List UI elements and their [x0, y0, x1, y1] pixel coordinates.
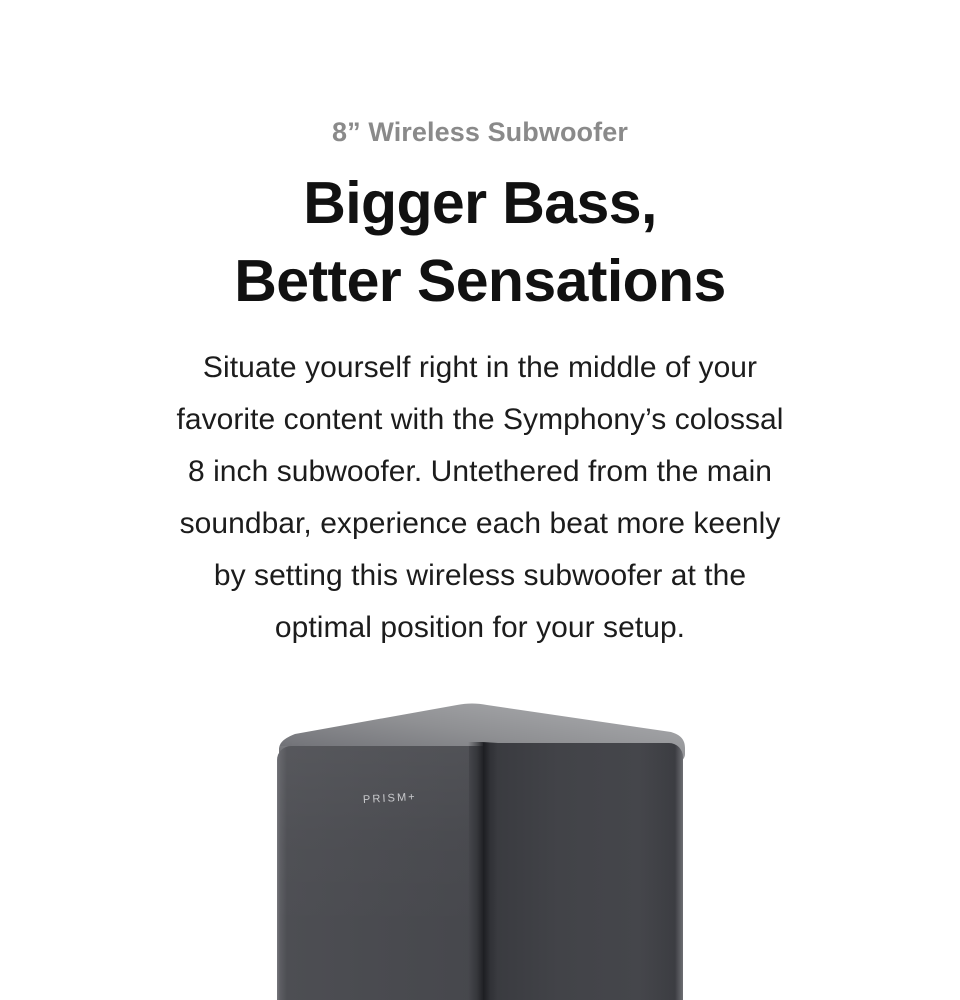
body-paragraph: Situate yourself right in the middle of …: [85, 342, 875, 654]
subwoofer-right-face: [483, 743, 683, 1000]
subwoofer-corner-edge: [468, 742, 498, 1000]
copy-block: 8” Wireless Subwoofer Bigger Bass, Bette…: [0, 0, 960, 654]
body-line-1: Situate yourself right in the middle of …: [85, 342, 875, 394]
body-line-3: 8 inch subwoofer. Untethered from the ma…: [85, 446, 875, 498]
page-title: Bigger Bass, Better Sensations: [0, 164, 960, 320]
subwoofer-left-face: [277, 746, 483, 1000]
subwoofer-product-image: PRISM+: [271, 702, 691, 1000]
body-line-5: by setting this wireless subwoofer at th…: [85, 550, 875, 602]
body-line-6: optimal position for your setup.: [85, 602, 875, 654]
product-image-stage: PRISM+: [0, 690, 960, 1000]
headline-line-1: Bigger Bass,: [0, 164, 960, 242]
eyebrow-label: 8” Wireless Subwoofer: [0, 114, 960, 150]
body-line-2: favorite content with the Symphony’s col…: [85, 394, 875, 446]
headline-line-2: Better Sensations: [0, 242, 960, 320]
product-feature-page: 8” Wireless Subwoofer Bigger Bass, Bette…: [0, 0, 960, 1000]
body-line-4: soundbar, experience each beat more keen…: [85, 498, 875, 550]
